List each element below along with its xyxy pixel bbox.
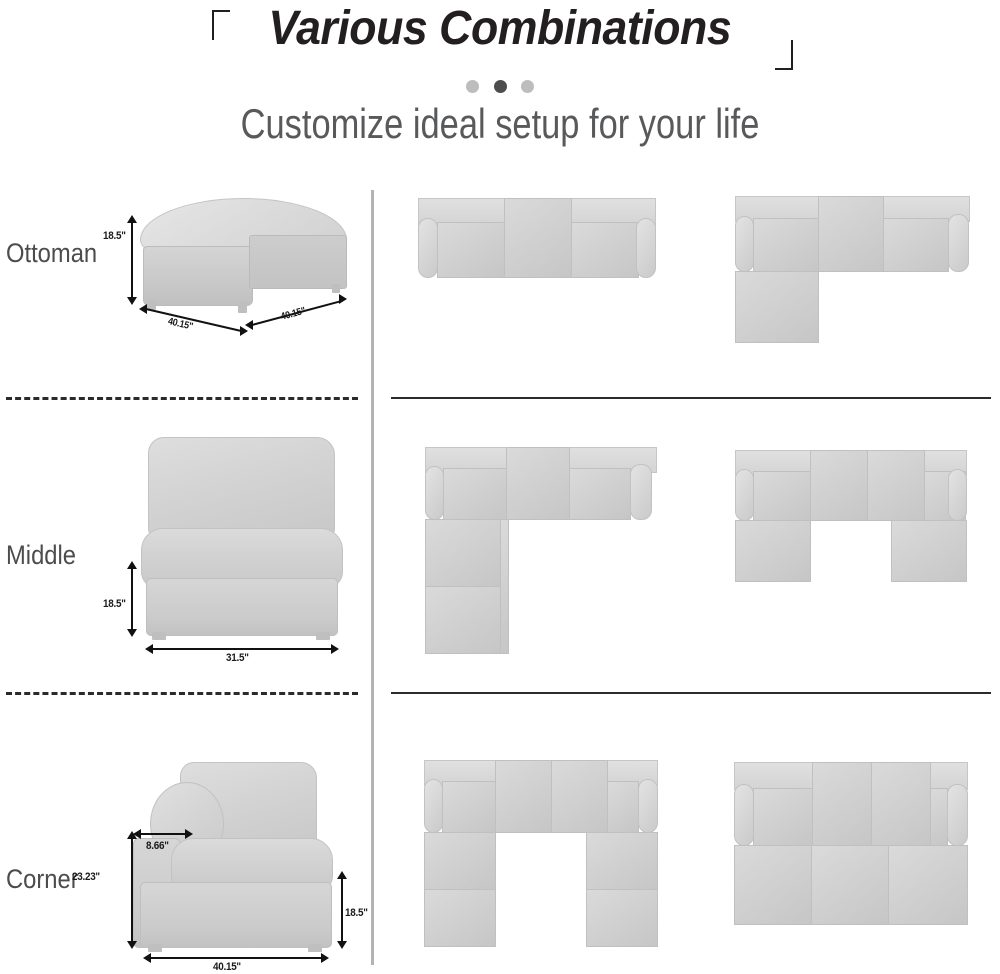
middle-width-value: 31.5" — [226, 652, 249, 664]
middle-leg-right — [316, 632, 330, 640]
dot-3 — [521, 80, 534, 93]
corner-arm-height-arrow-top — [127, 831, 137, 839]
corner-seat-height-value: 18.5" — [345, 907, 368, 919]
llarge-arm-top-left — [425, 466, 444, 520]
middle-height-line — [131, 568, 133, 630]
ushallow-seat-3 — [867, 450, 925, 521]
ushallow-seat-1 — [753, 471, 811, 521]
right-divider-1 — [391, 397, 991, 399]
left-divider-1 — [6, 397, 358, 400]
udeep-chaise-left-1 — [424, 832, 496, 890]
lsmall-seat-3 — [883, 218, 949, 272]
corner-leg-left — [148, 944, 162, 952]
llarge-seat-top-3 — [569, 468, 631, 520]
dot-indicators — [0, 78, 1000, 96]
lsmall-seat-1 — [753, 218, 819, 272]
bracket-bottom-right-icon — [775, 40, 793, 70]
middle-width-arrow-left — [145, 644, 153, 654]
ottoman-depth-value: 40.15" — [280, 306, 307, 323]
llarge-arm-top-right — [630, 464, 652, 520]
ushallow-arm-left — [735, 469, 754, 521]
udeep-seat-1 — [442, 781, 496, 833]
ottoman-front-width-line — [146, 308, 244, 332]
corner-arm-width-arrow-right — [185, 829, 193, 839]
corner-arm-width-value: 8.66" — [146, 840, 169, 852]
vertical-divider — [371, 190, 374, 965]
left-divider-2 — [6, 692, 358, 695]
page-subtitle: Customize ideal setup for your life — [90, 100, 910, 148]
udeep-seat-2 — [495, 760, 552, 833]
straight-arm-right — [636, 218, 656, 278]
daybed-arm-left — [734, 784, 754, 846]
udeep-seat-4 — [607, 781, 639, 833]
llarge-seat-top-1 — [443, 468, 507, 520]
infographic-page: Various Combinations Customize ideal set… — [0, 0, 1000, 974]
ottoman-side-panel — [249, 235, 347, 289]
udeep-arm-right — [638, 779, 658, 833]
corner-arm-width-line — [140, 833, 190, 835]
ushallow-chaise-right — [891, 520, 967, 582]
title-container: Various Combinations — [0, 4, 1000, 54]
daybed-arm-right — [947, 784, 968, 846]
corner-seat-height-arrow-top — [337, 871, 347, 879]
ottoman-height-arrow-bottom — [127, 297, 137, 305]
lsmall-arm-left — [735, 216, 754, 272]
corner-arm-height-value: 23.23" — [72, 871, 100, 883]
corner-seat-height-arrow-bottom — [337, 941, 347, 949]
ottoman-height-line — [131, 222, 133, 298]
udeep-chaise-right-1 — [586, 832, 658, 890]
middle-height-arrow-bottom — [127, 629, 137, 637]
ottoman-leg-front-right — [238, 302, 247, 313]
middle-leg-left — [152, 632, 166, 640]
straight-seat-2 — [504, 198, 572, 278]
module-label-corner: Corner — [6, 864, 79, 895]
daybed-seat-4 — [930, 788, 948, 846]
llarge-seat-side-2 — [425, 586, 501, 654]
corner-base — [140, 882, 332, 948]
daybed-seat-3 — [871, 762, 931, 846]
corner-total-width-line — [150, 957, 322, 959]
ushallow-arm-right — [948, 469, 967, 521]
llarge-seat-top-2 — [506, 447, 570, 520]
middle-back-cushion — [148, 437, 335, 537]
middle-width-arrow-right — [331, 644, 339, 654]
udeep-seat-3 — [551, 760, 608, 833]
straight-seat-3 — [571, 222, 639, 278]
ottoman-depth-arrow-left — [245, 320, 253, 330]
udeep-chaise-right-2 — [586, 889, 658, 947]
ottoman-depth-arrow-right — [339, 294, 347, 304]
corner-arm-height-line — [131, 838, 133, 942]
right-divider-2 — [391, 692, 991, 694]
daybed-lower-3 — [888, 845, 968, 925]
lsmall-arm-right — [948, 214, 969, 272]
udeep-arm-left — [424, 779, 443, 833]
lsmall-chaise — [735, 271, 819, 343]
dot-1 — [466, 80, 479, 93]
ottoman-front-panel — [143, 246, 253, 306]
daybed-lower-1 — [734, 845, 812, 925]
middle-width-line — [152, 648, 332, 650]
corner-leg-right — [308, 944, 322, 952]
ottoman-height-arrow-top — [127, 215, 137, 223]
middle-base — [146, 578, 338, 636]
ushallow-seat-2 — [810, 450, 868, 521]
corner-arm-height-arrow-bottom — [127, 941, 137, 949]
dot-2 — [494, 80, 507, 93]
ottoman-front-width-arrow-left — [139, 304, 147, 314]
ushallow-chaise-left — [735, 520, 811, 582]
llarge-side-rail — [500, 519, 509, 654]
corner-total-width-arrow-right — [321, 953, 329, 963]
page-title: Various Combinations — [269, 4, 732, 54]
module-label-ottoman: Ottoman — [6, 238, 97, 269]
straight-seat-1 — [437, 222, 505, 278]
daybed-seat-2 — [812, 762, 872, 846]
corner-seat-height-line — [341, 878, 343, 942]
middle-height-value: 18.5" — [103, 598, 126, 610]
lsmall-seat-2 — [818, 196, 884, 272]
ottoman-height-value: 18.5" — [103, 230, 126, 242]
llarge-seat-side-1 — [425, 519, 501, 587]
bracket-top-left-icon — [212, 10, 230, 40]
udeep-chaise-left-2 — [424, 889, 496, 947]
header: Various Combinations Customize ideal set… — [0, 0, 1000, 175]
ottoman-leg-back-right — [332, 284, 340, 293]
corner-total-width-value: 40.15" — [213, 961, 241, 973]
daybed-lower-2 — [811, 845, 889, 925]
straight-arm-left — [418, 218, 438, 278]
middle-height-arrow-top — [127, 561, 137, 569]
daybed-seat-1 — [753, 788, 813, 846]
module-label-middle: Middle — [6, 540, 76, 571]
corner-total-width-arrow-left — [143, 953, 151, 963]
